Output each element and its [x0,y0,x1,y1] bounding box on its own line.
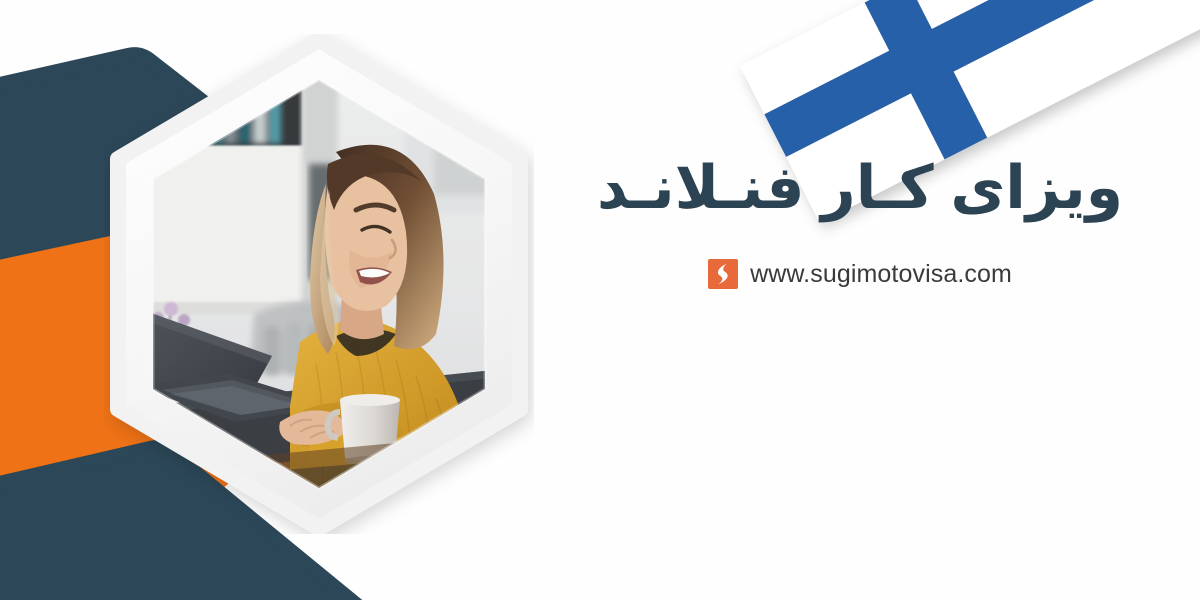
sugimoto-s-flame-icon [708,259,738,289]
page-title: ویزای کـار فنـلانـد [560,150,1160,225]
website-url[interactable]: www.sugimotovisa.com [750,260,1012,289]
website-row[interactable]: www.sugimotovisa.com [560,259,1160,289]
content-block: ویزای کـار فنـلانـد www.sugimotovisa.com [560,150,1160,289]
hexagon-photo-frame [104,34,534,534]
banner-root: ویزای کـار فنـلانـد www.sugimotovisa.com [0,0,1200,600]
